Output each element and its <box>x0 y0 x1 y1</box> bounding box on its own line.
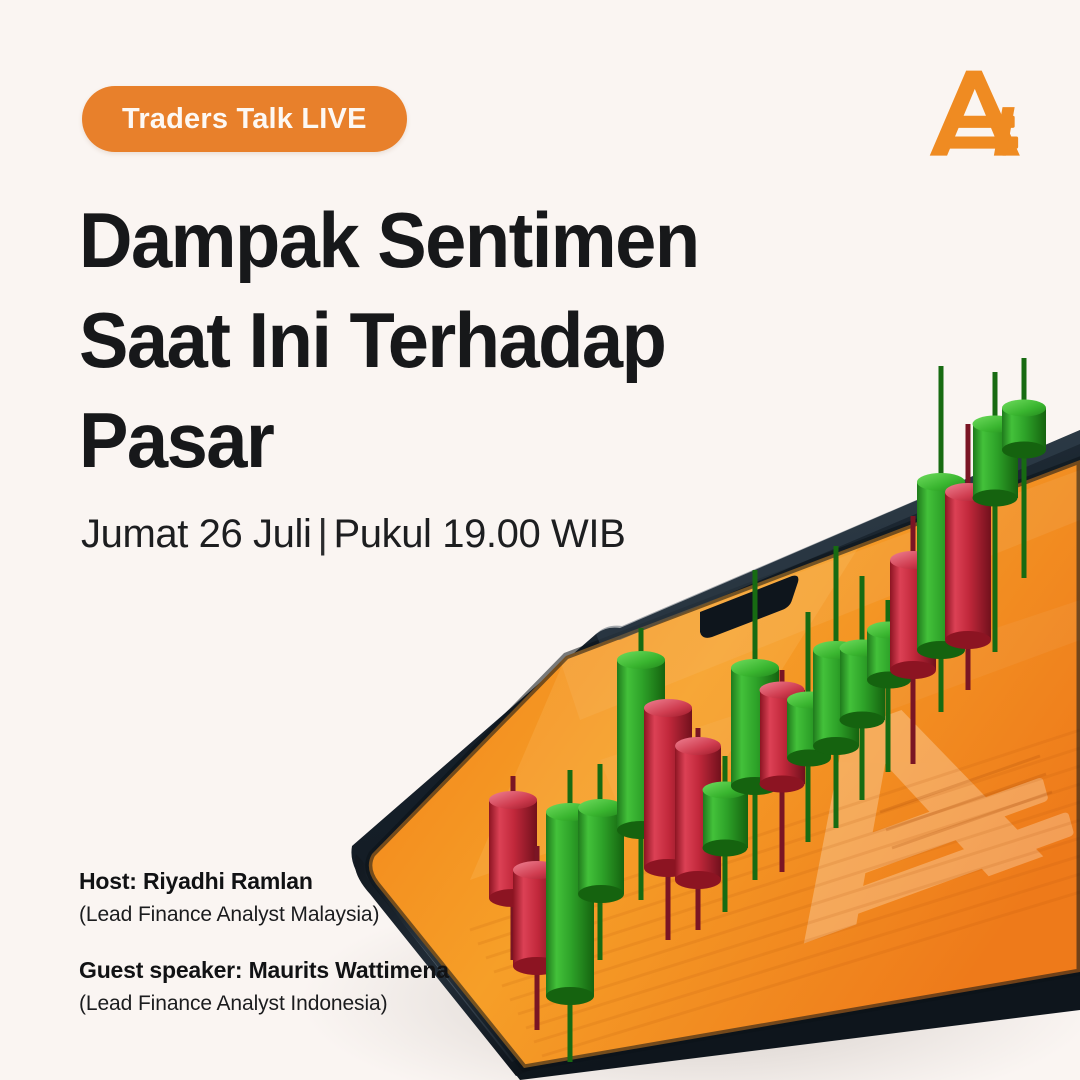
guest-role: (Lead Finance Analyst Indonesia) <box>79 989 599 1018</box>
headline-line-3: Pasar <box>79 391 801 491</box>
brand-a-logo-icon <box>928 62 1032 166</box>
credit-guest: Guest speaker: Maurits Wattimena (Lead F… <box>79 955 599 1018</box>
speaker-credits: Host: Riyadhi Ramlan (Lead Finance Analy… <box>79 866 599 1019</box>
candle-5 <box>617 628 665 900</box>
guest-name: Guest speaker: Maurits Wattimena <box>79 955 599 986</box>
candle-8 <box>703 756 749 912</box>
host-name: Host: Riyadhi Ramlan <box>79 866 599 897</box>
candle-16 <box>917 366 965 712</box>
candle-11 <box>787 612 831 842</box>
event-datetime: Jumat 26 Juli|Pukul 19.00 WIB <box>81 512 625 557</box>
datetime-separator: | <box>311 512 333 556</box>
headline-line-2: Saat Ini Terhadap <box>79 291 801 391</box>
candle-9 <box>731 570 779 880</box>
candle-12 <box>813 546 859 828</box>
event-date: Jumat 26 Juli <box>81 512 311 556</box>
live-badge-label: Traders Talk LIVE <box>122 105 367 134</box>
candle-10 <box>760 670 806 872</box>
candle-6 <box>644 699 692 940</box>
event-time: Pukul 19.00 WIB <box>333 512 625 556</box>
candle-19 <box>1002 358 1046 578</box>
credit-host: Host: Riyadhi Ramlan (Lead Finance Analy… <box>79 866 599 929</box>
poster-canvas: Traders Talk LIVE Dampak Sentimen Saat I… <box>0 0 1080 1080</box>
headline-line-1: Dampak Sentimen <box>79 191 801 291</box>
candle-14 <box>867 600 911 772</box>
candle-17 <box>945 424 991 690</box>
page-title: Dampak Sentimen Saat Ini Terhadap Pasar <box>79 191 801 490</box>
candle-15 <box>890 516 936 764</box>
candle-18 <box>973 372 1019 652</box>
candle-13 <box>840 576 886 800</box>
host-role: (Lead Finance Analyst Malaysia) <box>79 900 599 929</box>
live-badge[interactable]: Traders Talk LIVE <box>82 86 407 152</box>
candle-7 <box>675 728 721 930</box>
